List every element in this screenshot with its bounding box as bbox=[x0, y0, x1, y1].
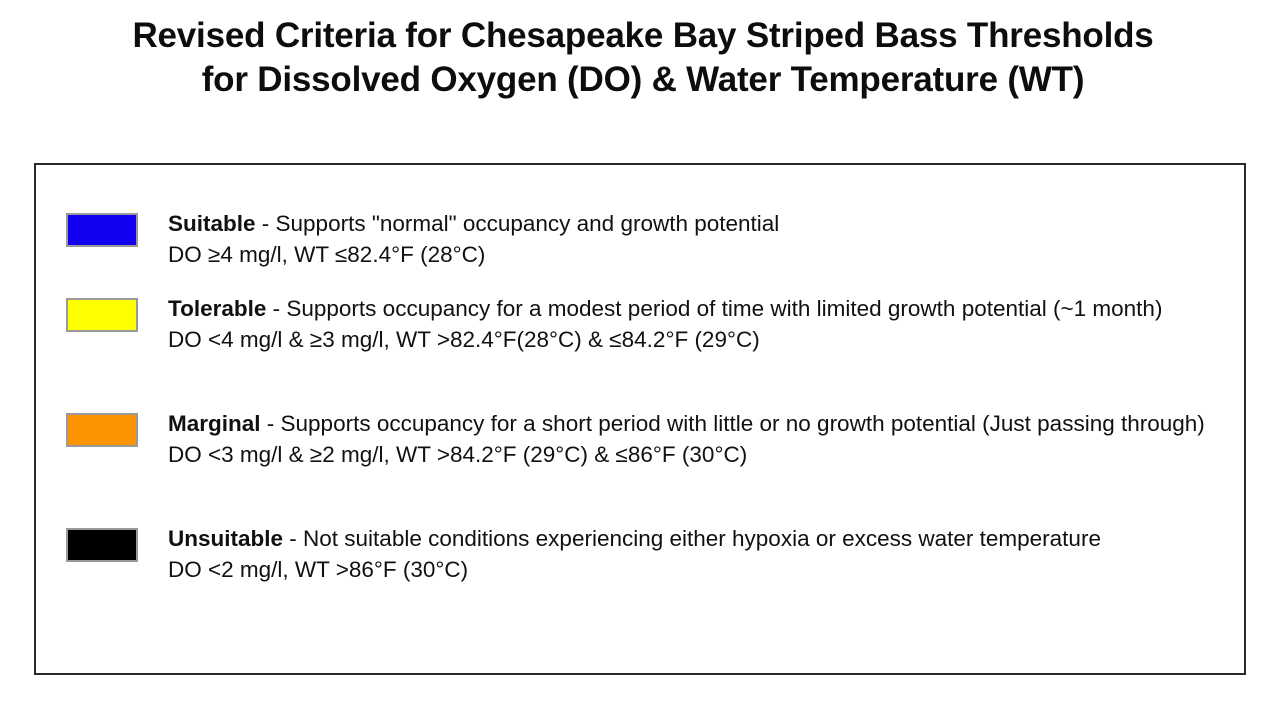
legend-description-marginal: - Supports occupancy for a short period … bbox=[261, 411, 1205, 436]
legend-panel: Suitable - Supports "normal" occupancy a… bbox=[34, 163, 1246, 675]
legend-term-suitable: Suitable bbox=[168, 211, 256, 236]
legend-criteria-marginal: DO <3 mg/l & ≥2 mg/l, WT >84.2°F (29°C) … bbox=[168, 440, 1226, 471]
legend-entry-text: Unsuitable - Not suitable conditions exp… bbox=[168, 524, 1226, 585]
legend-entry-marginal: Marginal - Supports occupancy for a shor… bbox=[66, 409, 1236, 470]
legend-entry-text: Suitable - Supports "normal" occupancy a… bbox=[168, 209, 1226, 270]
legend-term-unsuitable: Unsuitable bbox=[168, 526, 283, 551]
legend-criteria-tolerable: DO <4 mg/l & ≥3 mg/l, WT >82.4°F(28°C) &… bbox=[168, 325, 1226, 356]
legend-term-tolerable: Tolerable bbox=[168, 296, 266, 321]
swatch-tolerable bbox=[66, 298, 138, 332]
swatch-marginal bbox=[66, 413, 138, 447]
legend-criteria-suitable: DO ≥4 mg/l, WT ≤82.4°F (28°C) bbox=[168, 240, 1226, 271]
legend-entry-text: Tolerable - Supports occupancy for a mod… bbox=[168, 294, 1226, 355]
swatch-unsuitable bbox=[66, 528, 138, 562]
legend-term-marginal: Marginal bbox=[168, 411, 261, 436]
legend-description-tolerable: - Supports occupancy for a modest period… bbox=[266, 296, 1162, 321]
legend-description-unsuitable: - Not suitable conditions experiencing e… bbox=[283, 526, 1101, 551]
legend-entry-unsuitable: Unsuitable - Not suitable conditions exp… bbox=[66, 524, 1236, 585]
legend-criteria-unsuitable: DO <2 mg/l, WT >86°F (30°C) bbox=[168, 555, 1226, 586]
legend-entry-text: Marginal - Supports occupancy for a shor… bbox=[168, 409, 1226, 470]
legend-entry-tolerable: Tolerable - Supports occupancy for a mod… bbox=[66, 294, 1236, 355]
swatch-suitable bbox=[66, 213, 138, 247]
legend-description-suitable: - Supports "normal" occupancy and growth… bbox=[256, 211, 780, 236]
legend-entry-suitable: Suitable - Supports "normal" occupancy a… bbox=[66, 209, 1236, 270]
page-title: Revised Criteria for Chesapeake Bay Stri… bbox=[0, 14, 1286, 102]
legend-list: Suitable - Supports "normal" occupancy a… bbox=[36, 165, 1244, 673]
